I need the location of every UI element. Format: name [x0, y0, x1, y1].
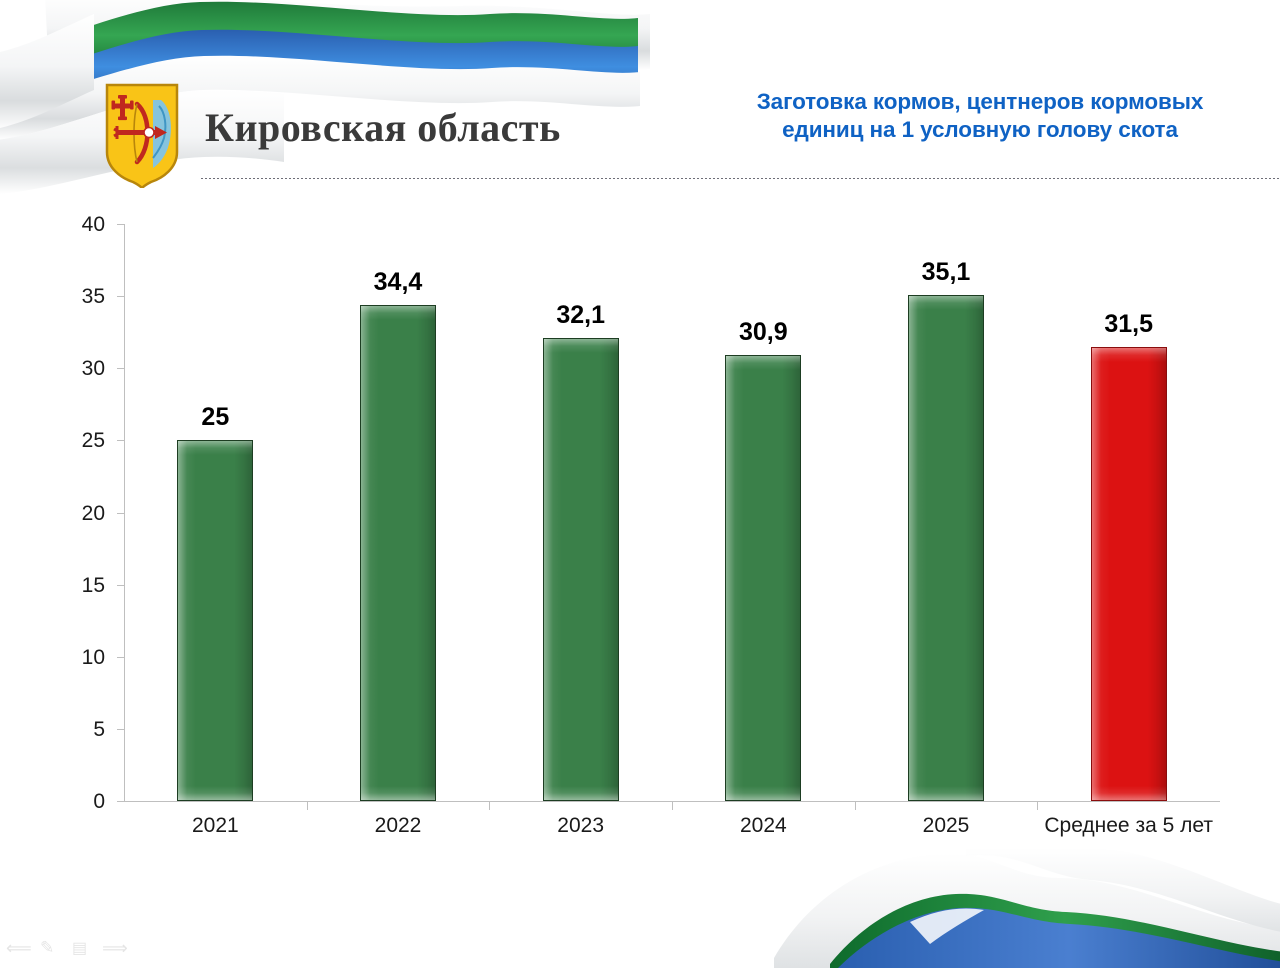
- y-axis-tick-label: 35: [45, 285, 105, 309]
- bar-data-label: 35,1: [856, 258, 1036, 287]
- bar-fill: [361, 306, 435, 800]
- y-axis-tick-label: 15: [45, 574, 105, 598]
- y-axis-line: [124, 224, 125, 802]
- x-axis-tick: [1037, 801, 1038, 810]
- y-axis-tick-label: 30: [45, 357, 105, 381]
- presentation-toolbar[interactable]: ⟸ ✎ ▤ ⟹: [6, 938, 136, 962]
- bar-fill: [909, 296, 983, 800]
- x-axis-tick: [307, 801, 308, 810]
- y-axis-tick: [117, 801, 124, 802]
- bar-data-label: 30,9: [673, 318, 853, 347]
- decorative-ribbon-bottom: [760, 848, 1280, 968]
- y-axis-tick: [117, 513, 124, 514]
- bar-data-label: 31,5: [1039, 310, 1219, 339]
- bar-fill: [1092, 348, 1166, 800]
- bar-fill: [178, 441, 252, 800]
- bar-data-label: 34,4: [308, 268, 488, 297]
- y-axis-tick: [117, 657, 124, 658]
- y-axis-tick-label: 25: [45, 429, 105, 453]
- forward-arrow-icon[interactable]: ⟹: [102, 938, 128, 959]
- chart-title-line-2: единиц на 1 условную голову скота: [700, 116, 1260, 144]
- chart-title-line-1: Заготовка кормов, центнеров кормовых: [700, 88, 1260, 116]
- y-axis-tick: [117, 729, 124, 730]
- bar: [543, 338, 619, 801]
- bar: [725, 355, 801, 801]
- bar-fill: [726, 356, 800, 800]
- page-header: Кировская область Заготовка кормов, цент…: [0, 0, 1280, 195]
- pen-icon[interactable]: ✎: [40, 938, 54, 958]
- y-axis-tick-label: 20: [45, 502, 105, 526]
- y-axis-tick-label: 10: [45, 646, 105, 670]
- header-divider: [200, 176, 1280, 179]
- bar: [177, 440, 253, 801]
- x-axis-tick: [672, 801, 673, 810]
- chart-title: Заготовка кормов, центнеров кормовых еди…: [700, 88, 1260, 145]
- x-axis-tick: [855, 801, 856, 810]
- y-axis-tick: [117, 296, 124, 297]
- bar-data-label: 25: [125, 403, 305, 432]
- bar: [1091, 347, 1167, 801]
- y-axis-tick-label: 40: [45, 213, 105, 237]
- bar: [360, 305, 436, 801]
- y-axis-tick-label: 0: [45, 790, 105, 814]
- y-axis-tick: [117, 585, 124, 586]
- bar-fill: [544, 339, 618, 800]
- menu-icon[interactable]: ▤: [72, 938, 87, 958]
- y-axis-tick-label: 5: [45, 718, 105, 742]
- x-axis-tick: [489, 801, 490, 810]
- back-arrow-icon[interactable]: ⟸: [6, 938, 32, 959]
- y-axis-tick: [117, 440, 124, 441]
- bar-chart: 0510152025303540 20212022202320242025Сре…: [0, 200, 1280, 860]
- page-title: Кировская область: [205, 104, 561, 151]
- y-axis-tick: [117, 368, 124, 369]
- bar-data-label: 32,1: [491, 301, 671, 330]
- bar: [908, 295, 984, 801]
- y-axis-tick: [117, 224, 124, 225]
- x-axis-tick-label: Среднее за 5 лет: [989, 814, 1269, 838]
- kirov-oblast-coat-of-arms-icon: [103, 82, 181, 188]
